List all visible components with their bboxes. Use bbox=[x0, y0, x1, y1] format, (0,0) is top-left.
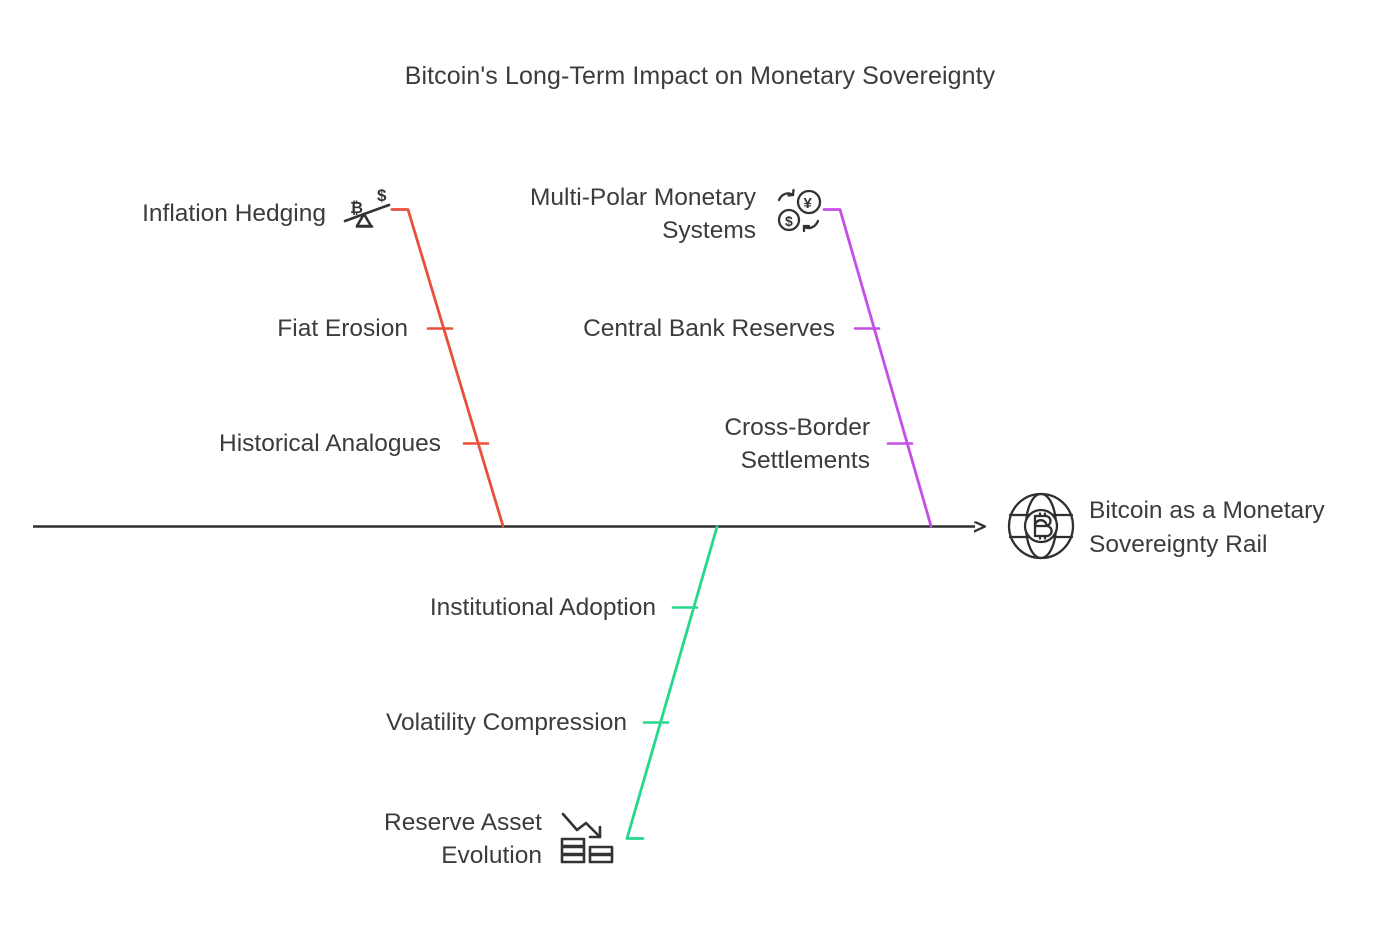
head-node-label[interactable]: Bitcoin as a Monetary Sovereignty Rail bbox=[1089, 494, 1389, 562]
factor-label-fiat-erosion[interactable]: Fiat Erosion bbox=[100, 312, 408, 345]
svg-text:$: $ bbox=[785, 213, 793, 229]
factor-label-cross-border-settlements[interactable]: Cross-Border Settlements bbox=[560, 411, 870, 477]
factor-label-inflation-hedging[interactable]: Inflation Hedging bbox=[20, 197, 326, 230]
factor-label-central-bank-reserves[interactable]: Central Bank Reserves bbox=[520, 312, 835, 345]
svg-text:₿: ₿ bbox=[350, 199, 363, 217]
globe-bitcoin-icon bbox=[1004, 489, 1078, 563]
factor-label-historical-analogues[interactable]: Historical Analogues bbox=[100, 427, 441, 460]
currency-exchange-icon: ¥ $ bbox=[774, 186, 826, 238]
branch-upper-right bbox=[824, 210, 931, 527]
declining-chart-coins-icon bbox=[558, 806, 618, 868]
factor-label-reserve-asset-evolution[interactable]: Reserve Asset Evolution bbox=[270, 806, 542, 872]
branch-upper-left bbox=[392, 210, 503, 527]
svg-text:$: $ bbox=[377, 186, 387, 205]
factor-label-volatility-compression[interactable]: Volatility Compression bbox=[290, 706, 627, 739]
branch-lower-center bbox=[627, 527, 717, 839]
fishbone-diagram: Bitcoin's Long-Term Impact on Monetary S… bbox=[0, 0, 1400, 938]
svg-text:¥: ¥ bbox=[804, 195, 813, 212]
seesaw-bitcoin-dollar-icon: ₿ $ bbox=[339, 183, 397, 241]
factor-label-institutional-adoption[interactable]: Institutional Adoption bbox=[330, 591, 656, 624]
factor-label-multi-polar-monetary-systems[interactable]: Multi-Polar Monetary Systems bbox=[440, 181, 756, 247]
page-title: Bitcoin's Long-Term Impact on Monetary S… bbox=[0, 62, 1400, 91]
